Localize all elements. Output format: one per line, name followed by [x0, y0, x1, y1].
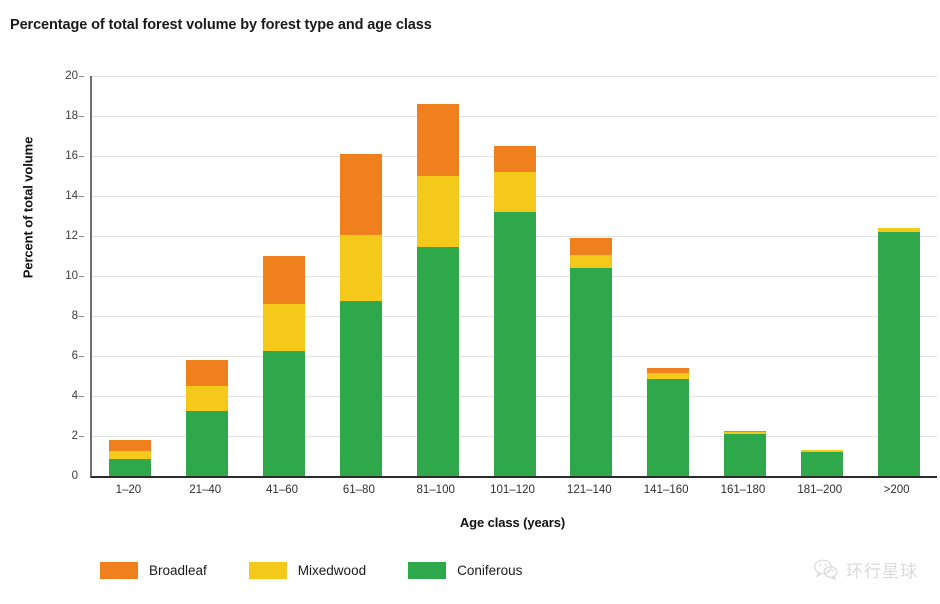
- chart-legend: BroadleafMixedwoodConiferous: [100, 562, 522, 579]
- bar-segment-broadleaf[interactable]: [263, 256, 305, 304]
- legend-item-broadleaf[interactable]: Broadleaf: [100, 562, 207, 579]
- bar-group[interactable]: [340, 154, 382, 476]
- bar-segment-coniferous[interactable]: [417, 247, 459, 476]
- bar-segment-broadleaf[interactable]: [340, 154, 382, 235]
- x-tick-label: >200: [884, 484, 910, 496]
- y-tick-label: 12: [65, 230, 78, 242]
- bar-group[interactable]: [417, 104, 459, 476]
- bar-segment-broadleaf[interactable]: [417, 104, 459, 176]
- bar-segment-broadleaf[interactable]: [494, 146, 536, 172]
- bar-group[interactable]: [263, 256, 305, 476]
- x-tick-label: 81–100: [416, 484, 454, 496]
- bar-group[interactable]: [186, 360, 228, 476]
- bar-segment-mixedwood[interactable]: [417, 176, 459, 247]
- legend-label: Broadleaf: [149, 563, 207, 578]
- y-tick-mark: [79, 196, 84, 197]
- legend-swatch: [100, 562, 138, 579]
- y-tick-label: 20: [65, 70, 78, 82]
- y-tick-label: 8: [72, 310, 78, 322]
- bar-segment-mixedwood[interactable]: [263, 304, 305, 351]
- y-tick-mark: [79, 156, 84, 157]
- y-tick-label: 18: [65, 110, 78, 122]
- y-tick-mark: [79, 356, 84, 357]
- bar-series-container: [92, 76, 937, 476]
- x-tick-label: 21–40: [189, 484, 221, 496]
- y-tick-mark: [79, 396, 84, 397]
- x-tick-label: 101–120: [490, 484, 535, 496]
- bar-segment-mixedwood[interactable]: [340, 235, 382, 301]
- legend-label: Coniferous: [457, 563, 522, 578]
- bar-segment-coniferous[interactable]: [570, 268, 612, 476]
- watermark: 环行星球: [814, 557, 918, 582]
- page-title: Percentage of total forest volume by for…: [10, 17, 432, 33]
- legend-item-mixedwood[interactable]: Mixedwood: [249, 562, 366, 579]
- x-axis: 1–2021–4041–6061–8081–100101–120121–1401…: [90, 484, 935, 504]
- x-tick-label: 1–20: [116, 484, 142, 496]
- x-tick-label: 161–180: [721, 484, 766, 496]
- bar-segment-coniferous[interactable]: [186, 411, 228, 476]
- bar-group[interactable]: [109, 440, 151, 476]
- bar-group[interactable]: [724, 431, 766, 476]
- legend-item-coniferous[interactable]: Coniferous: [408, 562, 522, 579]
- y-tick-mark: [79, 76, 84, 77]
- watermark-text: 环行星球: [846, 557, 918, 582]
- y-tick-mark: [79, 316, 84, 317]
- y-tick-mark: [79, 276, 84, 277]
- bar-group[interactable]: [570, 238, 612, 476]
- bar-segment-coniferous[interactable]: [340, 301, 382, 476]
- y-tick-label: 2: [72, 430, 78, 442]
- y-tick-mark: [79, 116, 84, 117]
- plot-area: [90, 76, 937, 478]
- bar-segment-coniferous[interactable]: [647, 379, 689, 476]
- bar-segment-mixedwood[interactable]: [570, 255, 612, 268]
- x-tick-label: 181–200: [797, 484, 842, 496]
- bar-group[interactable]: [494, 146, 536, 476]
- legend-swatch: [408, 562, 446, 579]
- bar-group[interactable]: [647, 368, 689, 476]
- legend-swatch: [249, 562, 287, 579]
- x-tick-label: 121–140: [567, 484, 612, 496]
- y-axis-title: Percent of total volume: [21, 88, 36, 328]
- y-tick-label: 4: [72, 390, 78, 402]
- y-tick-label: 10: [65, 270, 78, 282]
- bar-segment-coniferous[interactable]: [878, 232, 920, 476]
- bar-segment-coniferous[interactable]: [801, 452, 843, 476]
- bar-segment-coniferous[interactable]: [494, 212, 536, 476]
- bar-segment-mixedwood[interactable]: [186, 386, 228, 411]
- x-tick-label: 61–80: [343, 484, 375, 496]
- y-tick-label: 14: [65, 190, 78, 202]
- bar-segment-broadleaf[interactable]: [570, 238, 612, 255]
- wechat-icon: [814, 559, 838, 580]
- y-tick-label: 0: [72, 470, 78, 482]
- legend-label: Mixedwood: [298, 563, 366, 578]
- x-tick-label: 141–160: [644, 484, 689, 496]
- y-tick-label: 16: [65, 150, 78, 162]
- bar-segment-coniferous[interactable]: [263, 351, 305, 476]
- y-tick-mark: [79, 236, 84, 237]
- bar-group[interactable]: [801, 450, 843, 476]
- bar-segment-coniferous[interactable]: [724, 434, 766, 476]
- bar-segment-broadleaf[interactable]: [109, 440, 151, 451]
- bar-segment-coniferous[interactable]: [109, 459, 151, 476]
- bar-segment-broadleaf[interactable]: [186, 360, 228, 386]
- bar-segment-mixedwood[interactable]: [109, 451, 151, 459]
- x-axis-title: Age class (years): [90, 515, 935, 530]
- y-tick-label: 6: [72, 350, 78, 362]
- y-axis: 20181614121086420: [42, 76, 84, 476]
- bar-segment-mixedwood[interactable]: [494, 172, 536, 212]
- bar-group[interactable]: [878, 228, 920, 476]
- x-tick-label: 41–60: [266, 484, 298, 496]
- y-tick-mark: [79, 436, 84, 437]
